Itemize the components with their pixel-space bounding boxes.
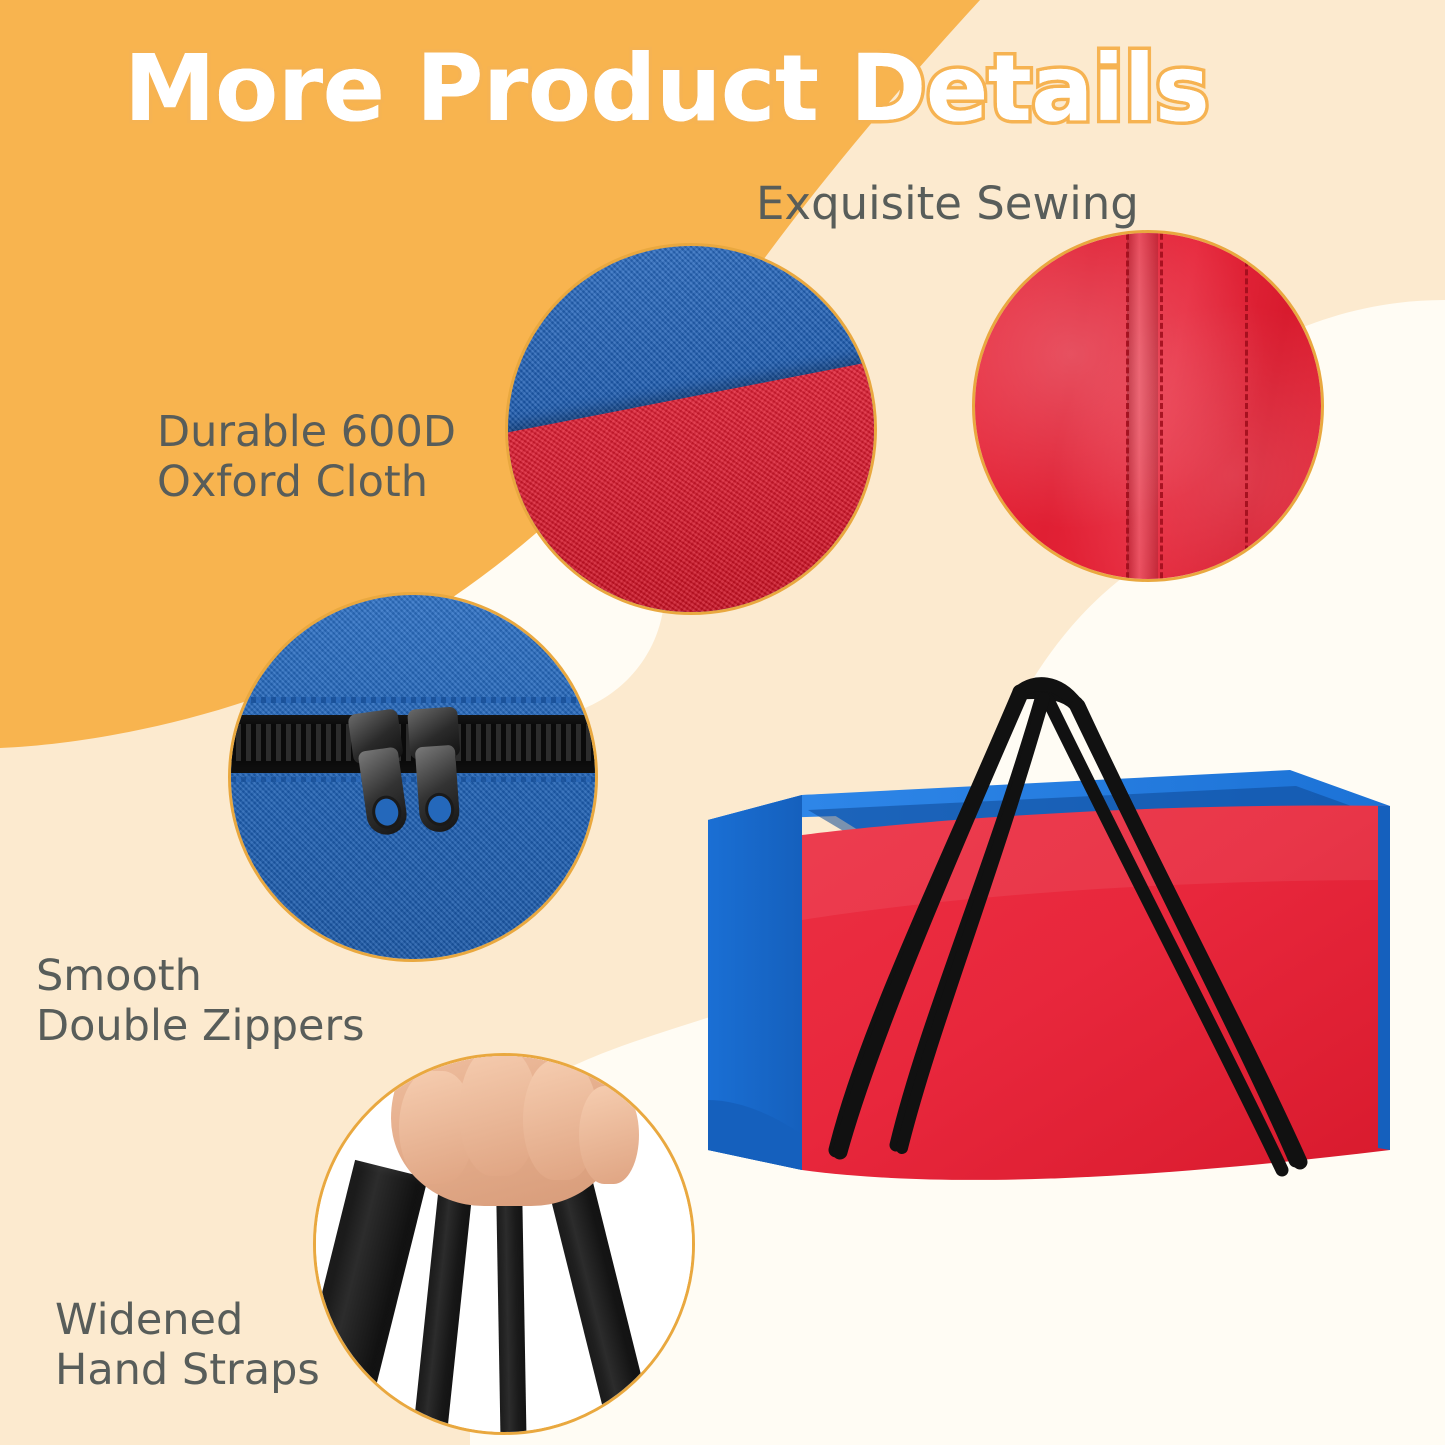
feature-image-widened-straps bbox=[313, 1053, 695, 1435]
feature-label-durable-oxford: Durable 600D Oxford Cloth bbox=[157, 408, 456, 508]
hand-finger bbox=[579, 1086, 639, 1184]
feature-image-durable-oxford bbox=[505, 243, 877, 615]
infographic-canvas: More Product Details More Product Detail… bbox=[0, 0, 1445, 1445]
feature-image-smooth-zippers bbox=[228, 592, 598, 962]
stitch-line bbox=[1245, 230, 1248, 582]
stitch-line bbox=[1126, 230, 1129, 582]
product-image-storage-bag bbox=[690, 630, 1410, 1230]
bag-right-edge bbox=[1378, 806, 1390, 1150]
feature-label-smooth-zippers: Smooth Double Zippers bbox=[36, 952, 365, 1052]
feature-label-exquisite-sewing: Exquisite Sewing bbox=[756, 178, 1139, 230]
zipper-top-seam bbox=[231, 697, 595, 703]
stitch-line bbox=[1160, 230, 1163, 582]
feature-image-exquisite-sewing bbox=[972, 230, 1324, 582]
carry-strap bbox=[496, 1180, 527, 1435]
page-title: More Product Details bbox=[124, 42, 1209, 136]
zipper-pull-right-icon bbox=[401, 706, 473, 852]
product-svg bbox=[690, 630, 1410, 1230]
seam-fold bbox=[1127, 230, 1158, 582]
feature-label-widened-straps: Widened Hand Straps bbox=[55, 1296, 320, 1396]
